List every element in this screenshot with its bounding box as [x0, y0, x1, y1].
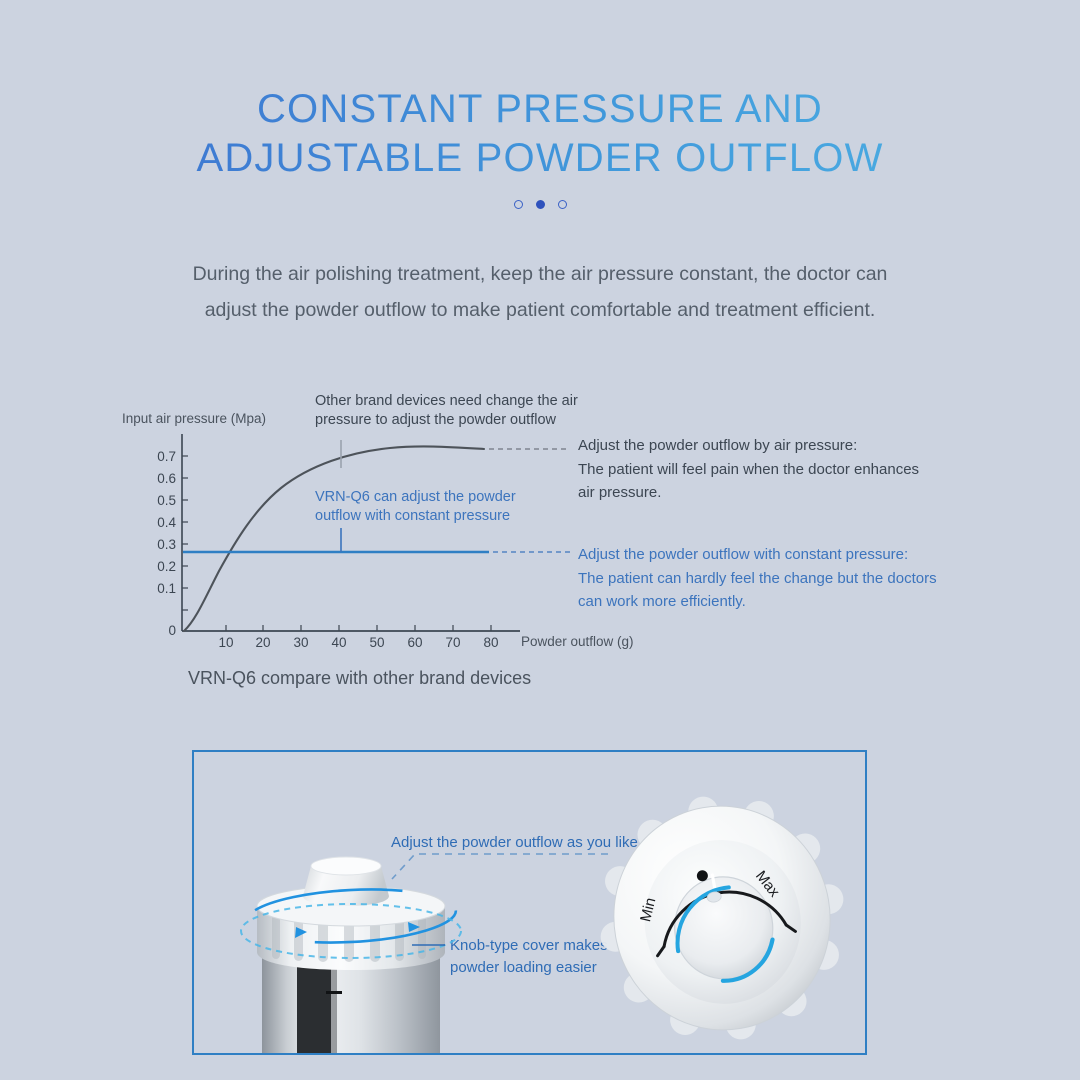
annotation-knob-cover: Knob-type cover makes powder loading eas…: [450, 935, 608, 979]
chart-xtick-80: 80: [483, 635, 498, 650]
chart-xtick-30: 30: [293, 635, 308, 650]
chart-ytick-0.4: 0.4: [157, 515, 176, 530]
chart-ytick-0.5: 0.5: [157, 493, 176, 508]
carousel-dots[interactable]: [0, 200, 1080, 209]
annotation-other-brand: Other brand devices need change the air …: [315, 392, 578, 430]
annotation-knob-cover-line-2: powder loading easier: [450, 957, 608, 979]
chart-ytick-0.2: 0.2: [157, 559, 176, 574]
chart-ytick-0.3: 0.3: [157, 537, 176, 552]
product-panel: [192, 750, 867, 1055]
carousel-dot-2[interactable]: [536, 200, 545, 209]
callout-air-pressure-line-2: The patient will feel pain when the doct…: [578, 458, 919, 482]
callout-constant-pressure: Adjust the powder outflow with constant …: [578, 543, 937, 614]
chart-axes: 0.7 0.6 0.5 0.4 0.3 0.2 0.1 0 10 20 30 4: [157, 434, 520, 650]
chart-x-axis-label: Powder outflow (g): [521, 634, 634, 649]
callout-air-pressure-line-3: air pressure.: [578, 481, 919, 505]
carousel-dot-1[interactable]: [514, 200, 523, 209]
subtitle-line-2: adjust the powder outflow to make patien…: [0, 292, 1080, 328]
annotation-vrn-q6-line-1: VRN-Q6 can adjust the powder: [315, 488, 516, 507]
annotation-adjust-outflow: Adjust the powder outflow as you like: [391, 834, 638, 851]
chart-ytick-0.6: 0.6: [157, 471, 176, 486]
callout-constant-pressure-line-1: Adjust the powder outflow with constant …: [578, 543, 937, 567]
chart-caption: VRN-Q6 compare with other brand devices: [188, 668, 531, 689]
callout-constant-pressure-line-2: The patient can hardly feel the change b…: [578, 567, 937, 591]
annotation-vrn-q6: VRN-Q6 can adjust the powder outflow wit…: [315, 488, 516, 526]
chart-xtick-70: 70: [445, 635, 460, 650]
subtitle-line-1: During the air polishing treatment, keep…: [0, 256, 1080, 292]
subtitle: During the air polishing treatment, keep…: [0, 256, 1080, 328]
callout-air-pressure: Adjust the powder outflow by air pressur…: [578, 434, 919, 505]
chart-xtick-50: 50: [369, 635, 384, 650]
page-title-line-2: ADJUSTABLE POWDER OUTFLOW: [0, 137, 1080, 179]
chart-xtick-10: 10: [218, 635, 233, 650]
annotation-knob-cover-line-1: Knob-type cover makes: [450, 935, 608, 957]
device-max-label: MAX: [345, 988, 365, 998]
callout-air-pressure-line-1: Adjust the powder outflow by air pressur…: [578, 434, 919, 458]
chart-series-other-brand: [184, 446, 484, 631]
annotation-other-brand-line-1: Other brand devices need change the air: [315, 392, 578, 411]
page-title: CONSTANT PRESSURE AND ADJUSTABLE POWDER …: [0, 88, 1080, 179]
page-title-line-1: CONSTANT PRESSURE AND: [0, 88, 1080, 130]
carousel-dot-3[interactable]: [558, 200, 567, 209]
page-root: CONSTANT PRESSURE AND ADJUSTABLE POWDER …: [0, 0, 1080, 1080]
annotation-vrn-q6-line-2: outflow with constant pressure: [315, 507, 516, 526]
annotation-other-brand-line-2: pressure to adjust the powder outflow: [315, 411, 578, 430]
chart-ytick-0: 0: [168, 623, 176, 638]
chart-xtick-60: 60: [407, 635, 422, 650]
chart-y-axis-label: Input air pressure (Mpa): [122, 411, 266, 426]
chart-ytick-0.7: 0.7: [157, 449, 176, 464]
callout-constant-pressure-line-3: can work more efficiently.: [578, 590, 937, 614]
chart-xtick-20: 20: [255, 635, 270, 650]
chart-xtick-40: 40: [331, 635, 346, 650]
chart-ytick-0.1: 0.1: [157, 581, 176, 596]
